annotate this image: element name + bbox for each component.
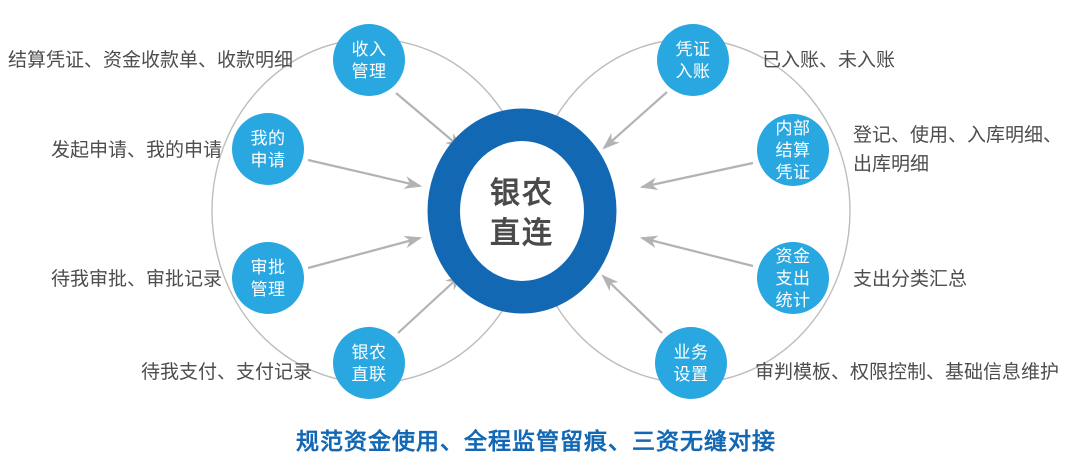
node-income-management[interactable]: 收入 管理 — [333, 24, 405, 96]
desc-line: 支出分类汇总 — [853, 265, 967, 294]
node-label-line2: 入账 — [676, 62, 711, 81]
arrow-fund-expenditure-statistics — [642, 238, 753, 266]
desc-line: 待我支付、支付记录 — [141, 358, 312, 387]
desc-fund-expenditure-statistics: 支出分类汇总 — [853, 265, 967, 294]
desc-income-management: 结算凭证、资金收款单、收款明细 — [8, 46, 293, 75]
node-label-line1: 银农 — [352, 343, 387, 362]
desc-line: 发起申请、我的申请 — [51, 136, 222, 165]
node-label-line3: 凭证 — [776, 163, 811, 182]
desc-line: 登记、使用、入库明细、 — [853, 121, 1062, 150]
center-ring-inner-fill — [460, 141, 584, 281]
node-approval-management[interactable]: 审批 管理 — [232, 242, 304, 314]
node-my-application[interactable]: 我的 申请 — [232, 113, 304, 185]
node-label-line1: 凭证 — [676, 40, 711, 59]
node-business-settings[interactable]: 业务 设置 — [655, 327, 727, 399]
node-circle — [232, 242, 304, 314]
node-label-line2: 管理 — [352, 62, 387, 81]
node-label-line1: 资金 — [776, 247, 811, 266]
node-bank-agri-direct[interactable]: 银农 直联 — [333, 327, 405, 399]
node-internal-settlement-voucher[interactable]: 内部 结算 凭证 — [757, 114, 829, 186]
desc-approval-management: 待我审批、审批记录 — [51, 265, 222, 294]
arrow-my-application — [308, 160, 420, 186]
desc-line: 审判模板、权限控制、基础信息维护 — [755, 358, 1059, 387]
node-label-line2: 设置 — [674, 365, 709, 384]
arrow-voucher-posting — [604, 92, 667, 148]
desc-bank-agri-direct: 待我支付、支付记录 — [141, 358, 312, 387]
node-circle — [333, 24, 405, 96]
node-fund-expenditure-statistics[interactable]: 资金 支出 统计 — [757, 242, 829, 314]
diagram-canvas: 银农 直连 收入 管理 我的 申请 审批 管理 银农 直联 — [0, 0, 1072, 471]
node-label-line3: 统计 — [776, 291, 811, 310]
bottom-caption: 规范资金使用、全程监管留痕、三资无缝对接 — [0, 422, 1072, 456]
node-circle — [333, 327, 405, 399]
node-circle — [232, 113, 304, 185]
desc-internal-settlement-voucher: 登记、使用、入库明细、 出库明细 — [853, 121, 1062, 179]
desc-voucher-posting: 已入账、未入账 — [762, 46, 895, 75]
node-label-line2: 支出 — [776, 269, 811, 288]
center-label-line1: 银农 — [490, 177, 554, 210]
desc-business-settings: 审判模板、权限控制、基础信息维护 — [755, 358, 1059, 387]
node-label-line1: 收入 — [352, 40, 387, 59]
desc-line: 出库明细 — [853, 150, 1062, 179]
node-label-line2: 管理 — [251, 280, 286, 299]
node-label-line1: 审批 — [251, 258, 286, 277]
node-voucher-posting[interactable]: 凭证 入账 — [657, 24, 729, 96]
desc-line: 待我审批、审批记录 — [51, 265, 222, 294]
arrow-business-settings — [603, 276, 662, 333]
arrow-income-management — [396, 93, 461, 148]
node-label-line2: 直联 — [352, 365, 387, 384]
desc-my-application: 发起申请、我的申请 — [51, 136, 222, 165]
node-label-line2: 申请 — [251, 151, 286, 170]
node-circle — [657, 24, 729, 96]
node-label-line1: 业务 — [674, 343, 709, 362]
desc-line: 已入账、未入账 — [762, 46, 895, 75]
node-label-line2: 结算 — [776, 141, 811, 160]
desc-line: 结算凭证、资金收款单、收款明细 — [8, 46, 293, 75]
node-circle — [655, 327, 727, 399]
node-label-line1: 我的 — [251, 129, 286, 148]
arrow-approval-management — [308, 238, 420, 268]
node-label-line1: 内部 — [776, 119, 811, 138]
center-label-line2: 直连 — [490, 217, 554, 250]
arrow-internal-settlement-voucher — [642, 163, 753, 187]
arrow-bank-agri-direct — [398, 275, 461, 333]
